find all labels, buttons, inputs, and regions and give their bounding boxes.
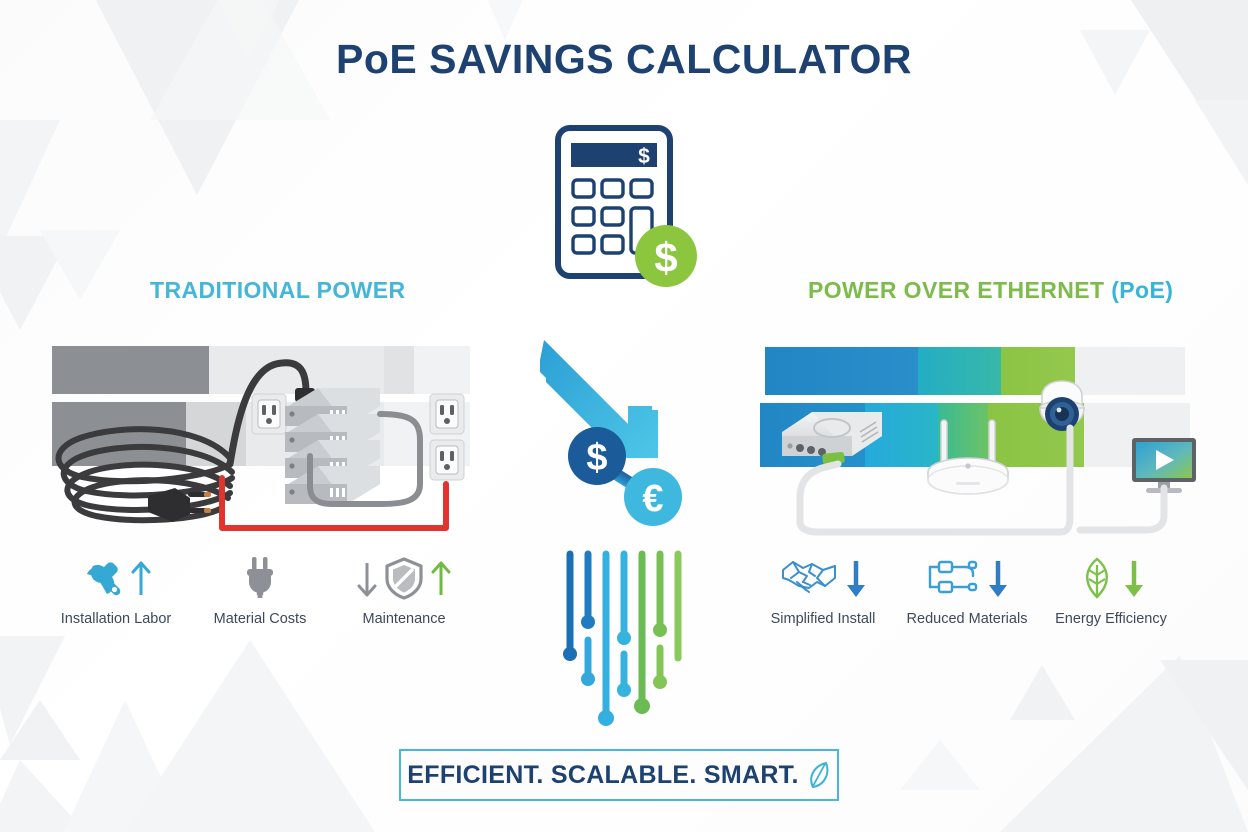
traditional-power-illustration [40, 336, 480, 536]
trend-down-arrow-icon [986, 556, 1010, 600]
wall-outlet [252, 394, 286, 434]
trend-down-arrow-icon [844, 556, 868, 600]
handshake-icon [779, 556, 839, 600]
calculator-illustration: $ $ [540, 116, 720, 306]
benefit-label: Maintenance [362, 610, 445, 628]
section-heading-traditional: TRADITIONAL POWER [150, 277, 406, 304]
leaf-icon [1077, 555, 1117, 601]
wall-outlet [430, 440, 464, 480]
section-heading-poe: POWER OVER ETHERNET (PoE) [808, 277, 1173, 304]
tagline-text: EFFICIENT. SCALABLE. SMART. [407, 761, 798, 790]
benefit-label: Reduced Materials [907, 610, 1028, 628]
poe-network-illustration [760, 336, 1200, 536]
cost-decrease-illustration: $ € [540, 332, 700, 532]
benefit-installation-labor: Installation Labor [45, 552, 187, 628]
shield-icon [383, 555, 425, 601]
section-heading-poe-main: POWER OVER ETHERNET [808, 277, 1104, 303]
page-title: PoE SAVINGS CALCULATOR [0, 36, 1248, 83]
calculator-display-dollar-sign: $ [638, 145, 650, 168]
cable-icon [925, 556, 981, 600]
server-stack [285, 388, 380, 504]
benefit-icon-group [240, 552, 280, 604]
benefit-label: Material Costs [214, 610, 307, 628]
benefit-label: Energy Efficiency [1055, 610, 1167, 628]
benefits-poe: Simplified Install [752, 552, 1182, 628]
trend-up-arrow-icon [430, 557, 452, 599]
infographic-canvas: PoE SAVINGS CALCULATOR $ $ [0, 0, 1248, 832]
svg-text:$: $ [586, 437, 607, 479]
benefit-icon-group [81, 552, 152, 604]
benefit-simplified-install: Simplified Install [752, 552, 894, 628]
tagline-banner: EFFICIENT. SCALABLE. SMART. [399, 749, 839, 801]
svg-text:€: € [642, 478, 663, 520]
plug-icon [240, 554, 280, 602]
benefit-reduced-materials: Reduced Materials [896, 552, 1038, 628]
benefit-icon-group [925, 552, 1010, 604]
wrench-icon [81, 556, 125, 600]
trend-down-arrow-icon [1122, 556, 1146, 600]
benefit-maintenance: Maintenance [333, 552, 475, 628]
benefit-energy-efficiency: Energy Efficiency [1040, 552, 1182, 628]
wall-outlet [430, 394, 464, 434]
benefit-label: Installation Labor [61, 610, 171, 628]
trend-up-arrow-icon [130, 557, 152, 599]
benefits-traditional: Installation Labor Material Costs [45, 552, 475, 628]
benefit-icon-group [779, 552, 868, 604]
benefit-material-costs: Material Costs [189, 552, 331, 628]
leaf-icon [805, 760, 831, 790]
section-heading-poe-suffix: (PoE) [1111, 277, 1173, 303]
benefit-icon-group [356, 552, 452, 604]
svg-text:$: $ [654, 234, 677, 281]
benefit-label: Simplified Install [771, 610, 876, 628]
trend-down-arrow-icon [356, 557, 378, 599]
data-lines-decoration [550, 542, 710, 742]
benefit-icon-group [1077, 552, 1146, 604]
